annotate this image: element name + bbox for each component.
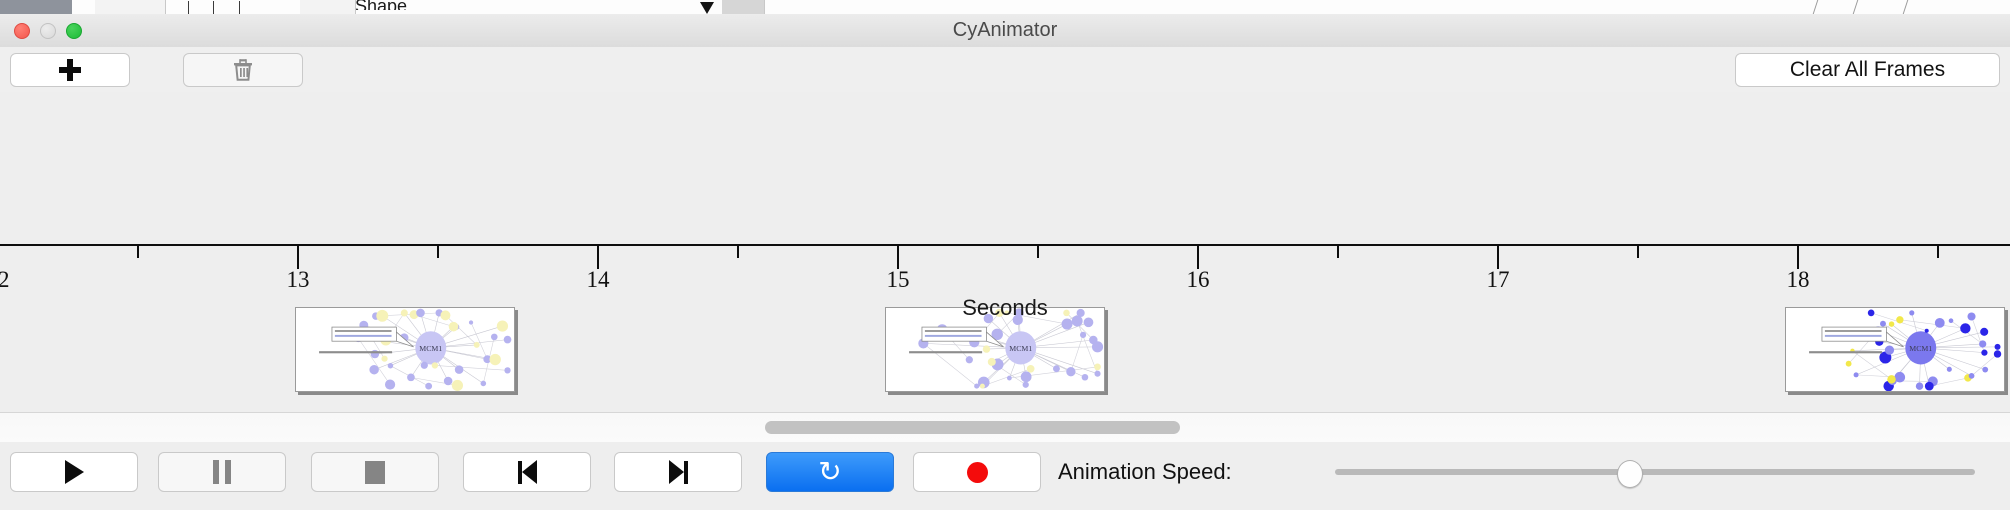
skip-fwd-button[interactable] (614, 452, 742, 492)
axis-tick-minor (437, 245, 439, 258)
axis-tick-label: 15 (887, 267, 910, 293)
stop-button[interactable] (311, 452, 439, 492)
delete-frame-button[interactable] (183, 53, 303, 87)
axis-tick-minor (737, 245, 739, 258)
svg-text:MCM1: MCM1 (1009, 344, 1032, 353)
pause-button[interactable] (158, 452, 286, 492)
plus-icon (59, 59, 81, 81)
trash-icon (230, 56, 256, 84)
axis-tick-label: 17 (1487, 267, 1510, 293)
record-button[interactable] (913, 452, 1041, 492)
title-bar: CyAnimator (0, 14, 2010, 48)
clear-all-frames-button[interactable]: Clear All Frames (1735, 53, 2000, 87)
stop-icon (365, 461, 385, 484)
axis-tick-minor (1937, 245, 1939, 258)
axis-tick-minor (1037, 245, 1039, 258)
background-window-divider (1853, 0, 1859, 14)
slider-thumb[interactable] (1617, 460, 1643, 488)
axis-tick-major (897, 245, 899, 269)
svg-text:MCM1: MCM1 (1909, 344, 1932, 353)
axis-tick-label: 12 (0, 267, 10, 293)
toolbar: Clear All Frames (0, 47, 2010, 93)
skip-back-icon (518, 460, 537, 484)
background-window-label: Shape (355, 0, 407, 10)
loop-icon: ↻ (818, 458, 841, 486)
axis-tick-label: 13 (287, 267, 310, 293)
skip-forward-icon (669, 460, 688, 484)
axis-tick-label: 16 (1187, 267, 1210, 293)
pause-icon (213, 460, 231, 484)
timeline-panel[interactable]: MCM1MCM1MCM1 12131415161718 Seconds (0, 92, 2010, 412)
svg-text:MCM1: MCM1 (419, 344, 442, 353)
background-window-marker (700, 2, 714, 14)
timeline-scrollbar[interactable] (0, 412, 2010, 443)
background-window-divider (213, 1, 214, 14)
animation-speed-label: Animation Speed: (1058, 452, 1232, 492)
axis-tick-major (1797, 245, 1799, 269)
axis-tick-major (597, 245, 599, 269)
axis-tick-minor (1637, 245, 1639, 258)
play-icon (65, 460, 84, 484)
animation-speed-slider[interactable] (1335, 452, 1975, 492)
playback-bar: ↻ Animation Speed: (0, 442, 2010, 510)
axis-title: Seconds (0, 295, 2010, 321)
axis-tick-major (1197, 245, 1199, 269)
add-frame-button[interactable] (10, 53, 130, 87)
record-icon (967, 462, 988, 483)
background-window-tab (300, 0, 356, 14)
background-window-tab (722, 0, 765, 14)
timeline-axis (0, 244, 2010, 245)
axis-tick-label: 14 (587, 267, 610, 293)
background-window-divider (1813, 0, 1819, 14)
background-window-dark-panel (0, 0, 72, 14)
background-window-divider (188, 1, 189, 14)
axis-tick-major (297, 245, 299, 269)
axis-tick-minor (137, 245, 139, 258)
slider-track[interactable] (1335, 469, 1975, 475)
loop-button[interactable]: ↻ (766, 452, 894, 492)
play-button[interactable] (10, 452, 138, 492)
axis-tick-minor (1337, 245, 1339, 258)
axis-tick-label: 18 (1787, 267, 1810, 293)
background-window-divider (1903, 0, 1909, 14)
background-window-strip: Shape (0, 0, 2010, 15)
scrollbar-thumb[interactable] (765, 421, 1180, 434)
axis-tick-major (1497, 245, 1499, 269)
cyanimator-window: Shape CyAnimator (0, 0, 2010, 510)
background-window-divider (239, 1, 240, 14)
skip-back-button[interactable] (463, 452, 591, 492)
window-title: CyAnimator (0, 14, 2010, 47)
background-window-tab (95, 0, 166, 14)
